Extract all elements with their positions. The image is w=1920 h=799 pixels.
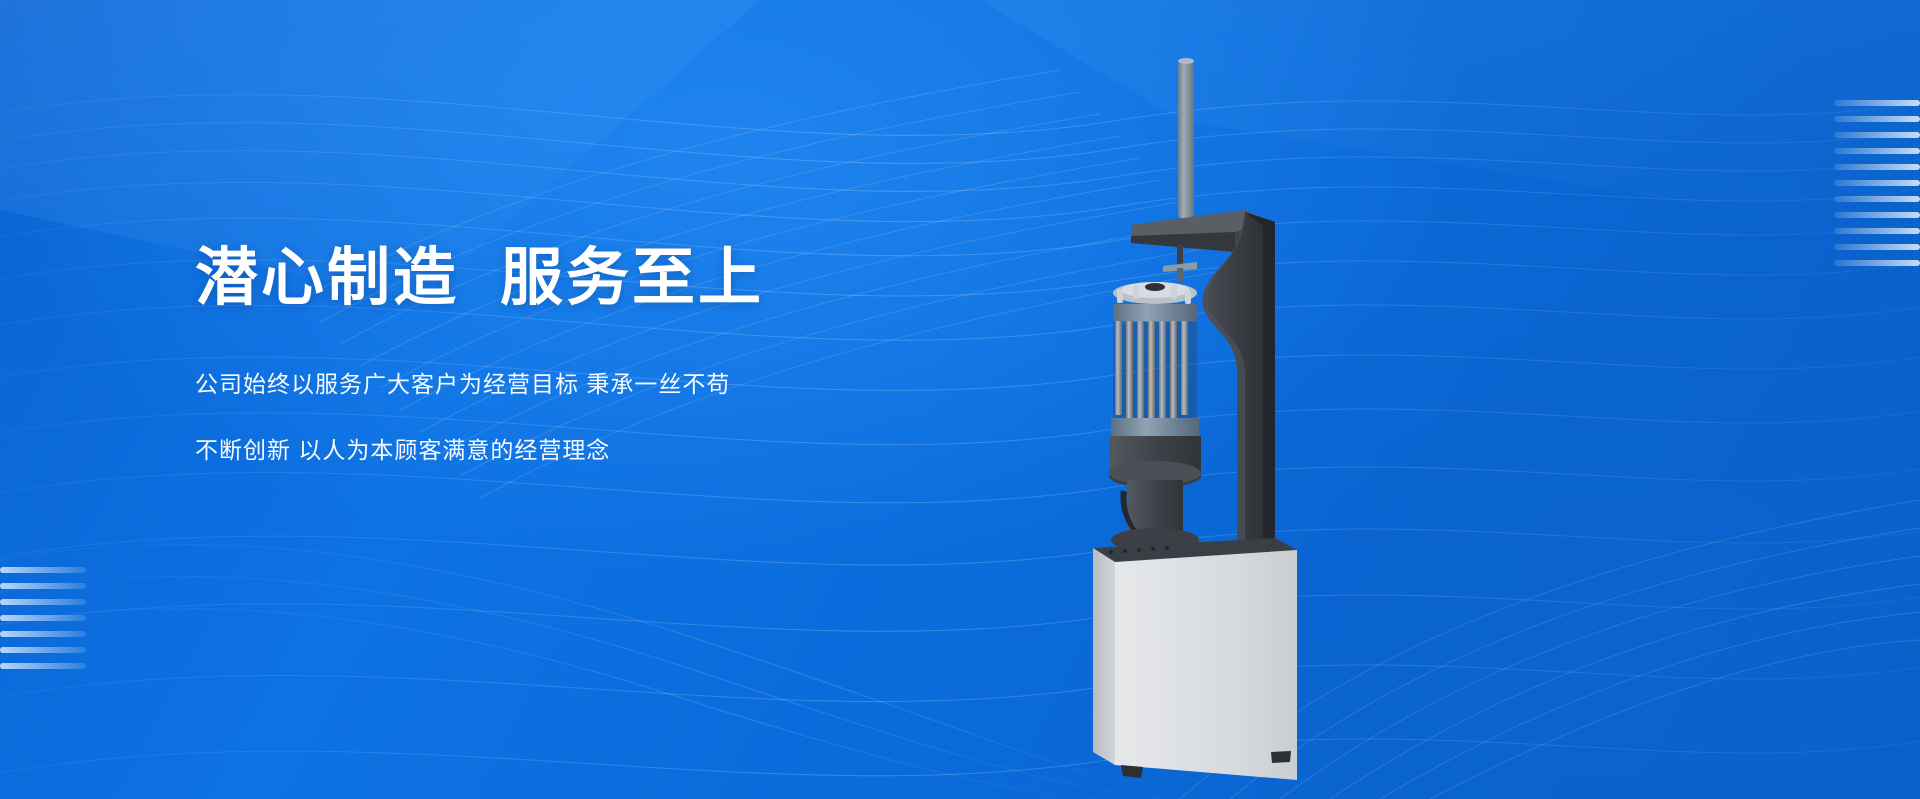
tick-bar <box>0 663 86 669</box>
tick-bar <box>1834 116 1920 122</box>
right-tick-decoration <box>1834 100 1920 266</box>
motor-neck <box>1111 480 1199 552</box>
hero-subtitle-line-1: 公司始终以服务广大客户为经营目标 秉承一丝不苟 <box>195 363 955 406</box>
vertical-rod <box>1178 58 1194 220</box>
tick-bar <box>1834 148 1920 154</box>
product-machine-illustration <box>1085 40 1415 780</box>
tick-bar <box>0 583 86 589</box>
hero-banner: 潜心制造 服务至上 公司始终以服务广大客户为经营目标 秉承一丝不苟 不断创新 以… <box>0 0 1920 799</box>
tick-bar <box>0 567 86 573</box>
hero-subtitle-line-2: 不断创新 以人为本顾客满意的经营理念 <box>195 429 955 472</box>
tick-bar <box>0 615 86 621</box>
tick-bar <box>1834 260 1920 266</box>
tick-bar <box>1834 132 1920 138</box>
tick-bar <box>1834 228 1920 234</box>
finned-motor-housing <box>1109 282 1201 488</box>
tick-bar <box>0 631 86 637</box>
hero-headline: 潜心制造 服务至上 <box>195 245 955 311</box>
hero-copy-block: 潜心制造 服务至上 公司始终以服务广大客户为经营目标 秉承一丝不苟 不断创新 以… <box>195 245 955 494</box>
tick-bar <box>1834 196 1920 202</box>
tick-bar <box>1834 164 1920 170</box>
tick-bar <box>1834 100 1920 106</box>
tick-bar <box>0 599 86 605</box>
tick-bar <box>1834 244 1920 250</box>
tick-bar <box>0 647 86 653</box>
tick-bar <box>1834 212 1920 218</box>
spindle-chuck <box>1163 244 1197 282</box>
left-tick-decoration <box>0 567 86 669</box>
cabinet-base <box>1093 538 1297 780</box>
curved-column <box>1203 212 1275 552</box>
tick-bar <box>1834 180 1920 186</box>
